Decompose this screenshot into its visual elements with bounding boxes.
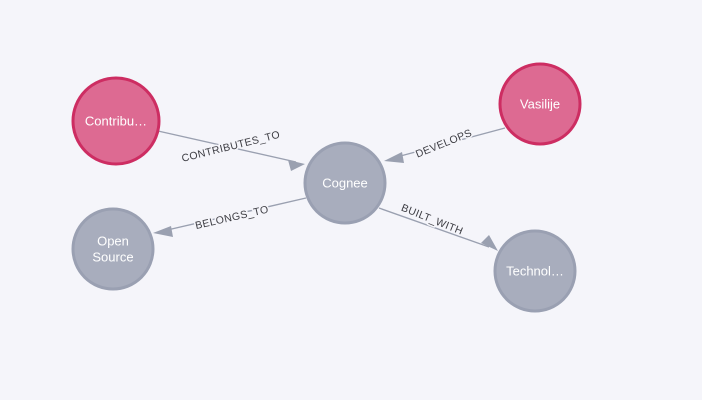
edge-label-belongs-to: BELONGS_TO bbox=[194, 204, 270, 233]
node-open-source[interactable]: Open Source bbox=[73, 209, 153, 289]
node-label-cognee: Cognee bbox=[322, 175, 368, 190]
node-technology[interactable]: Technol… bbox=[495, 231, 575, 311]
node-label-open-source-line2: Source bbox=[92, 249, 133, 264]
node-label-technology: Technol… bbox=[506, 263, 564, 278]
node-label-open-source-line1: Open bbox=[97, 233, 129, 248]
edge-contributes-to[interactable]: CONTRIBUTES_TO bbox=[158, 129, 305, 171]
edge-develops[interactable]: DEVELOPS bbox=[384, 127, 505, 163]
node-contributor[interactable]: Contribu… bbox=[73, 78, 159, 164]
node-vasilije[interactable]: Vasilije bbox=[500, 64, 580, 144]
arrowhead-built-with bbox=[481, 235, 498, 251]
edge-built-with[interactable]: BUILT_WITH bbox=[379, 202, 498, 251]
arrowhead-contributes-to bbox=[288, 160, 305, 171]
edge-label-built-with: BUILT_WITH bbox=[399, 202, 464, 238]
edge-label-develops: DEVELOPS bbox=[414, 127, 474, 161]
edge-label-contributes-to: CONTRIBUTES_TO bbox=[180, 129, 281, 165]
node-cognee[interactable]: Cognee bbox=[305, 143, 385, 223]
node-label-contributor: Contribu… bbox=[85, 113, 147, 128]
graph-canvas[interactable]: CONTRIBUTES_TO DEVELOPS BELONGS_TO BUILT… bbox=[0, 0, 702, 400]
node-label-vasilije: Vasilije bbox=[520, 96, 560, 111]
arrowhead-develops bbox=[384, 152, 404, 163]
graph-visualization[interactable]: CONTRIBUTES_TO DEVELOPS BELONGS_TO BUILT… bbox=[0, 0, 702, 400]
edge-belongs-to[interactable]: BELONGS_TO bbox=[153, 198, 306, 237]
nodes-layer: Contribu… Vasilije Cognee Open Source bbox=[73, 64, 580, 311]
arrowhead-belongs-to bbox=[153, 226, 173, 237]
